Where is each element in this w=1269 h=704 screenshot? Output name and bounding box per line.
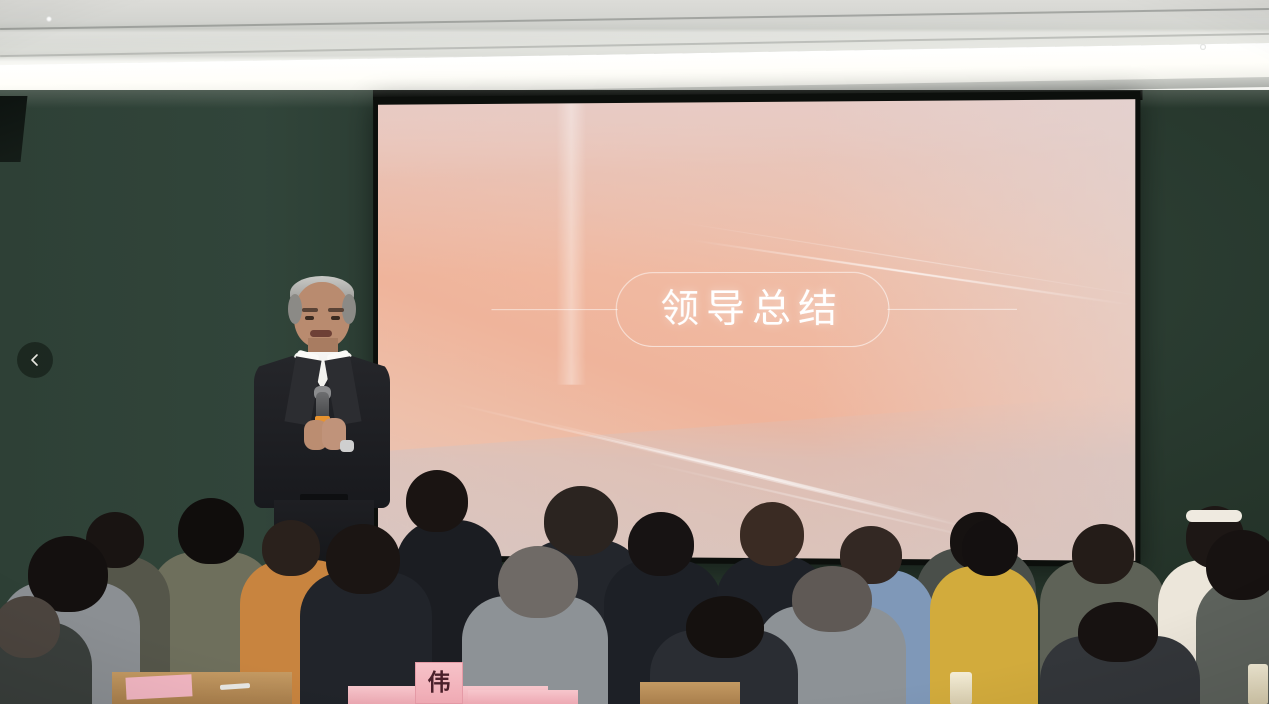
presenter-watch [340,440,354,452]
presenter-eye [305,316,314,320]
audience-head [792,566,872,632]
ceiling-seam [0,8,1269,30]
presenter-hair-side [342,294,356,324]
audience-head [498,546,578,618]
audience-head [544,486,618,556]
projection-screen: 领导总结 [378,99,1135,561]
audience-head [1206,530,1269,600]
audience-headband [1186,510,1242,522]
audience-head [1072,524,1134,584]
audience-head [1078,602,1158,662]
slide-title-group: 领导总结 [378,263,1135,354]
name-placard: 伟 [415,662,463,704]
photo-scene: 领导总结 [0,0,1269,704]
placard-strip [468,690,578,704]
projection-screen-frame: 领导总结 [373,91,1140,567]
slide-rule-left [491,309,617,310]
audience-head [628,512,694,576]
audience-head [178,498,244,564]
slide-rule-right [887,308,1017,309]
audience-head [326,524,400,594]
presenter-eyebrow [302,308,318,312]
audience-head [740,502,804,566]
audience-head [406,470,468,532]
name-placard-text: 伟 [428,672,451,695]
presenter-hair-side [288,294,302,324]
water-bottle [950,672,972,704]
desk [640,682,740,704]
ceiling-screw [1200,44,1206,50]
water-bottle [1248,664,1268,704]
audience-head [0,596,60,658]
previous-button[interactable] [17,342,53,378]
slide-title-pill: 领导总结 [616,271,890,346]
ceiling-screw [46,16,52,22]
chevron-left-icon [28,353,42,367]
presenter-mouth [310,330,332,337]
audience-head [962,520,1018,576]
audience-head [686,596,764,658]
slide-title-text: 领导总结 [660,289,844,328]
audience-member-middle [930,566,1038,704]
audience-head [262,520,320,576]
paper-sheet [125,674,192,699]
presenter-eyebrow [328,308,344,312]
presenter-eye [331,316,340,320]
